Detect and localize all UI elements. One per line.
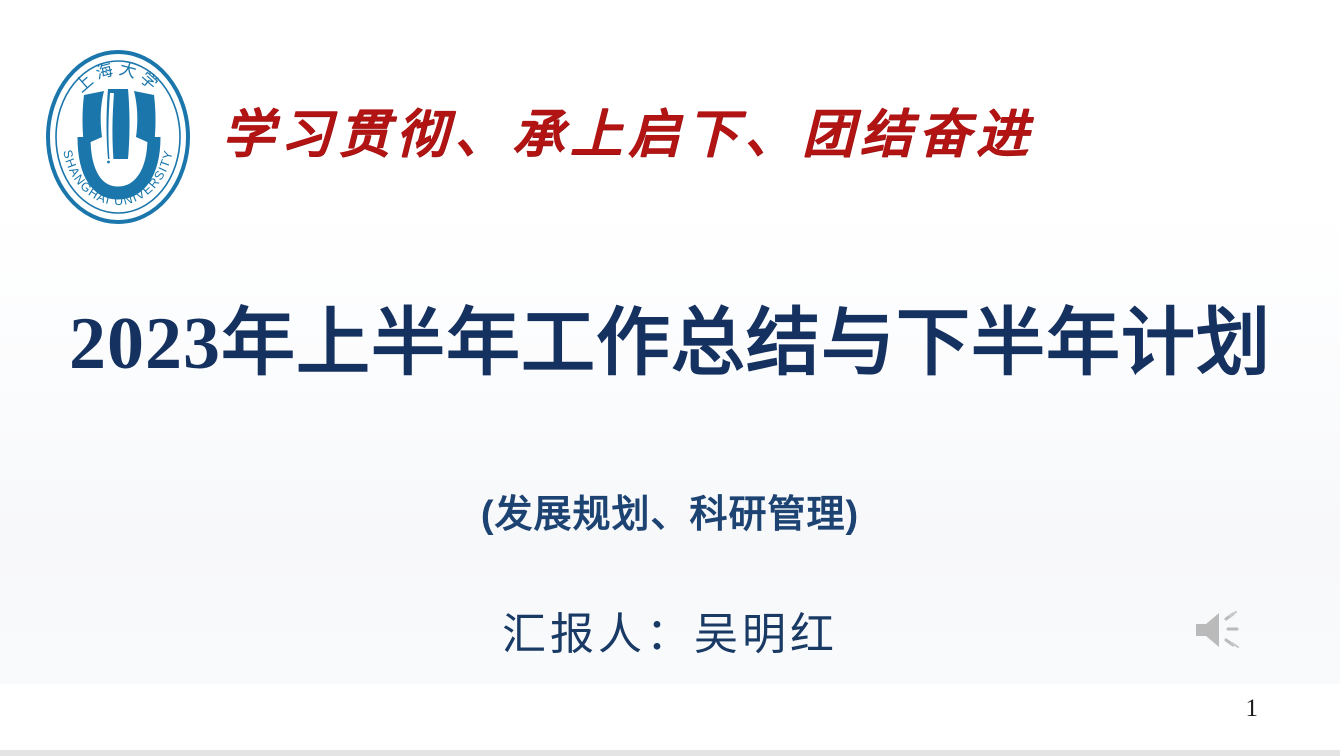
presenter-line: 汇报人：吴明红 — [0, 606, 1340, 664]
calligraphy-banner: 学习贯彻、承上启下、团结奋进 — [222, 96, 962, 174]
shanghai-university-logo: 上海大学 SHANGHAI UNIVERSITY — [42, 33, 194, 233]
slide-canvas: 上海大学 SHANGHAI UNIVERSITY 学习贯彻、承上启下、团结奋进 … — [0, 0, 1340, 684]
page-number: 1 — [1246, 694, 1259, 724]
page-subtitle: (发展规划、科研管理) — [0, 489, 1340, 541]
slide-root: 上海大学 SHANGHAI UNIVERSITY 学习贯彻、承上启下、团结奋进 … — [0, 0, 1340, 756]
bottom-strip — [0, 750, 1340, 756]
slide-footer — [0, 684, 1340, 750]
page-title: 2023年上半年工作总结与下半年计划 — [0, 296, 1340, 392]
speaker-icon[interactable] — [1192, 607, 1248, 653]
